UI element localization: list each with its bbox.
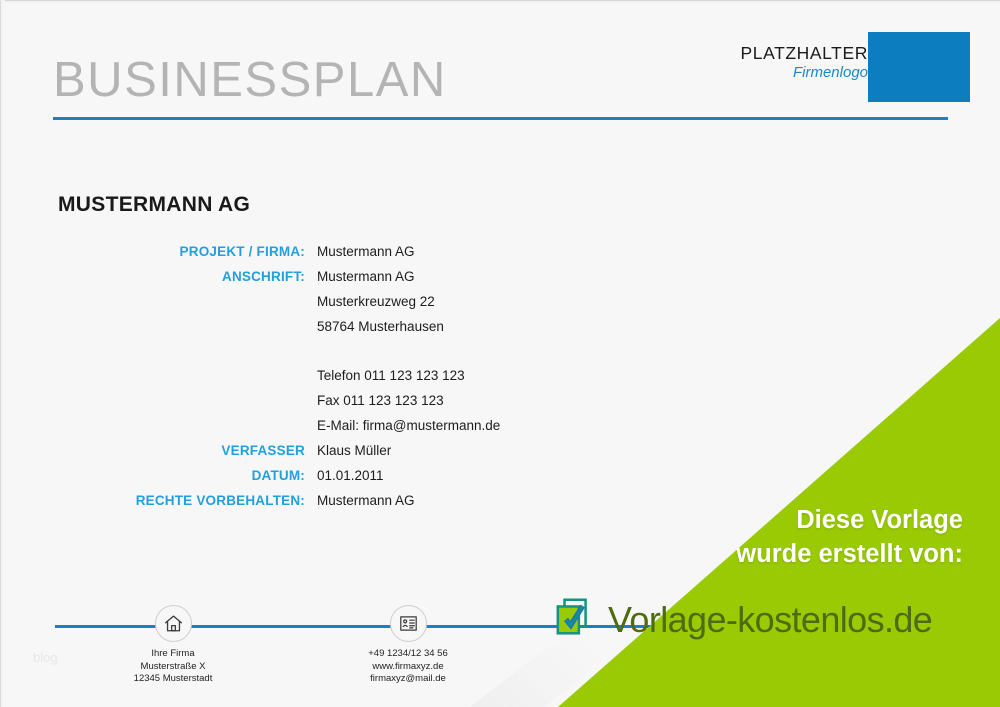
table-row: 58764 Musterhausen [58, 319, 500, 344]
page-title: BUSINESSPLAN [53, 52, 447, 108]
row-label [58, 319, 317, 344]
footer-line: 12345 Musterstadt [83, 673, 263, 686]
contact-card-icon [390, 605, 427, 642]
page-edge-top [0, 0, 1000, 4]
company-name: MUSTERMANN AG [58, 193, 250, 217]
table-row: ANSCHRIFT: Mustermann AG [58, 269, 500, 294]
table-row: E-Mail: firma@mustermann.de [58, 418, 500, 443]
row-label: ANSCHRIFT: [58, 269, 317, 294]
document-check-icon [553, 594, 599, 645]
row-label [58, 294, 317, 319]
project-info-table: PROJEKT / FIRMA: Mustermann AG ANSCHRIFT… [58, 244, 500, 518]
table-row: Telefon 011 123 123 123 [58, 368, 500, 393]
row-label: PROJEKT / FIRMA: [58, 244, 317, 269]
logo-placeholder-block [868, 32, 970, 102]
table-row: VERFASSER Klaus Müller [58, 443, 500, 468]
logo-line-1: PLATZHALTER [740, 44, 868, 62]
promo-headline-line-1: Diese Vorlage [736, 503, 963, 537]
footer-column-address: Ihre Firma Musterstraße X 12345 Musterst… [83, 605, 263, 686]
logo-line-2: Firmenlogo [740, 65, 868, 81]
row-value: Telefon 011 123 123 123 [317, 368, 500, 393]
header-divider [53, 117, 948, 120]
table-row: Musterkreuzweg 22 [58, 294, 500, 319]
footer-line: Musterstraße X [83, 661, 263, 674]
table-row: Fax 011 123 123 123 [58, 393, 500, 418]
row-label: VERFASSER [58, 443, 317, 468]
promo-brand[interactable]: Vorlage-kostenlos.de [553, 594, 932, 645]
footer-address-lines: Ihre Firma Musterstraße X 12345 Musterst… [83, 648, 263, 686]
row-label [58, 418, 317, 443]
row-value: E-Mail: firma@mustermann.de [317, 418, 500, 443]
row-value: Fax 011 123 123 123 [317, 393, 500, 418]
logo-placeholder-text: PLATZHALTER Firmenlogo [740, 44, 868, 81]
row-label [58, 393, 317, 418]
footer-line: www.firmaxyz.de [318, 661, 498, 674]
document-page: BUSINESSPLAN PLATZHALTER Firmenlogo MUST… [0, 0, 1000, 707]
row-value: 01.01.2011 [317, 468, 500, 493]
footer-contact-lines: +49 1234/12 34 56 www.firmaxyz.de firmax… [318, 648, 498, 686]
home-icon [155, 605, 192, 642]
footer-line: firmaxyz@mail.de [318, 673, 498, 686]
table-row: RECHTE VORBEHALTEN: Mustermann AG [58, 493, 500, 518]
promo-headline: Diese Vorlage wurde erstellt von: [736, 503, 963, 571]
row-value: Mustermann AG [317, 269, 500, 294]
promo-headline-line-2: wurde erstellt von: [736, 537, 963, 571]
row-label: DATUM: [58, 468, 317, 493]
blog-watermark: blog [33, 650, 58, 665]
row-value: Musterkreuzweg 22 [317, 294, 500, 319]
promo-brand-name: Vorlage-kostenlos.de [608, 599, 932, 641]
footer-line: +49 1234/12 34 56 [318, 648, 498, 661]
footer-column-contact: +49 1234/12 34 56 www.firmaxyz.de firmax… [318, 605, 498, 686]
row-value: 58764 Musterhausen [317, 319, 500, 344]
footer-line: Ihre Firma [83, 648, 263, 661]
row-value: Mustermann AG [317, 493, 500, 518]
table-row: DATUM: 01.01.2011 [58, 468, 500, 493]
table-spacer-row [58, 344, 500, 368]
row-value: Klaus Müller [317, 443, 500, 468]
table-row: PROJEKT / FIRMA: Mustermann AG [58, 244, 500, 269]
row-label: RECHTE VORBEHALTEN: [58, 493, 317, 518]
row-label [58, 368, 317, 393]
page-edge-left [0, 0, 5, 707]
row-value: Mustermann AG [317, 244, 500, 269]
